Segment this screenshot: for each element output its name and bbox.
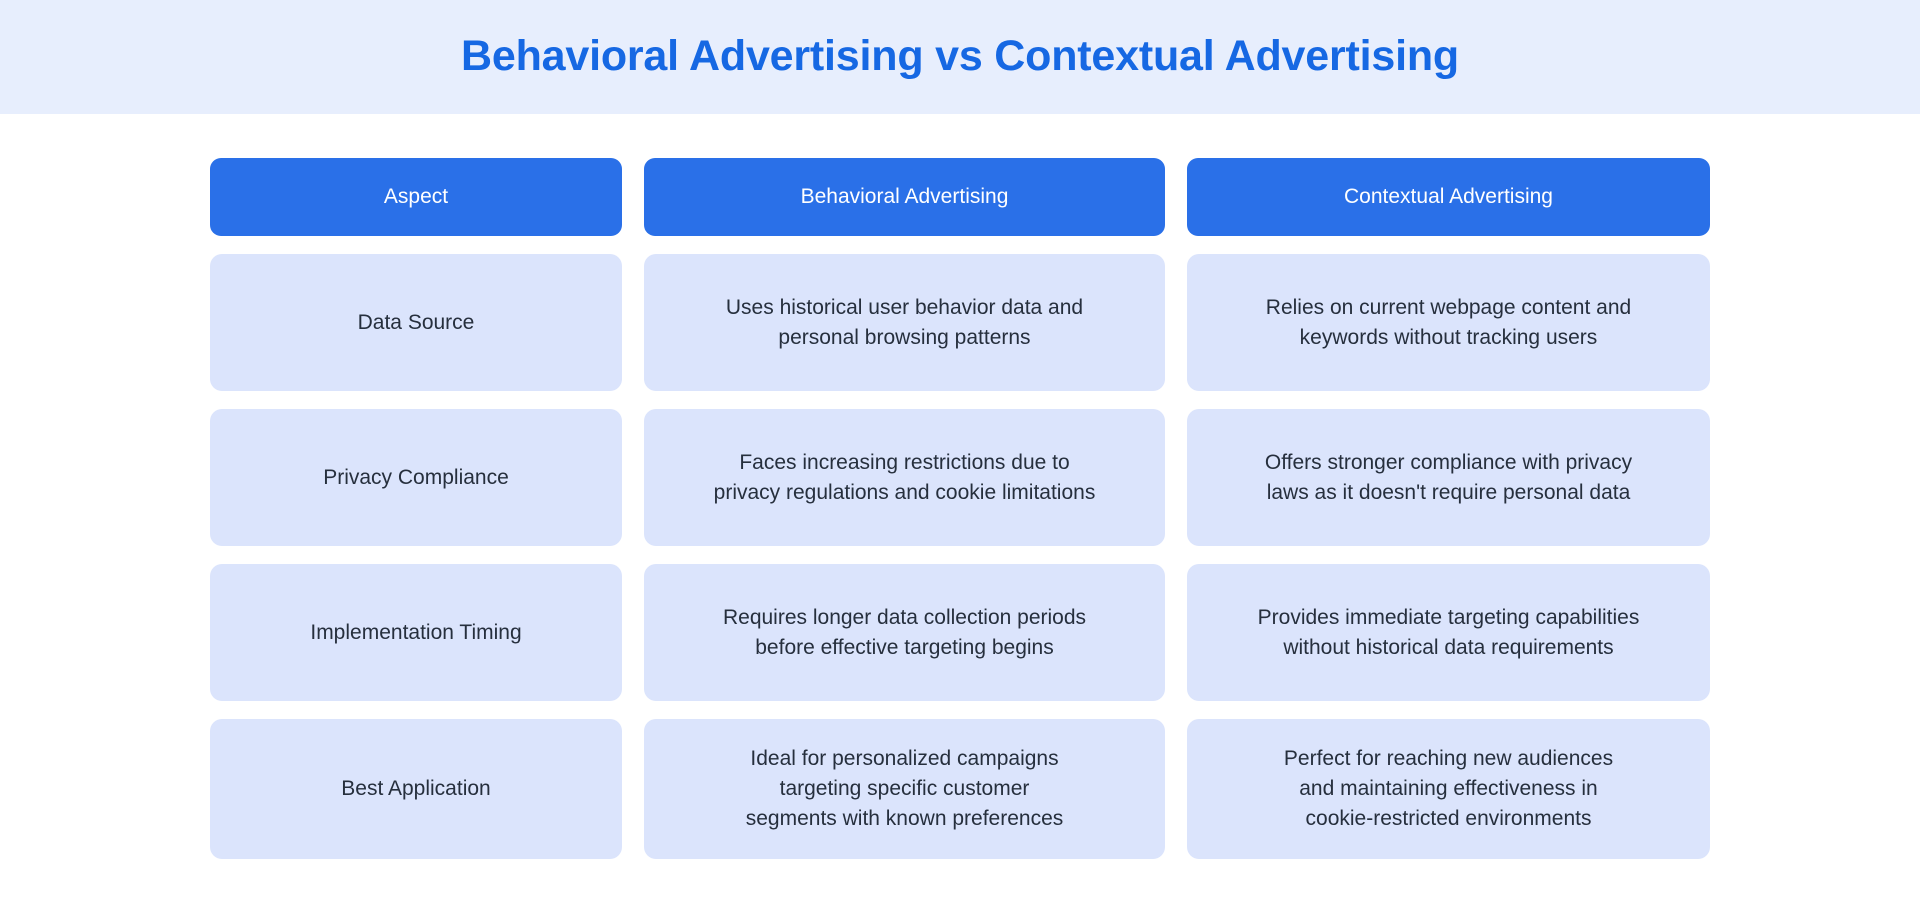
- cell-behavioral-text: Faces increasing restrictions due to pri…: [714, 448, 1096, 508]
- cell-aspect[interactable]: Best Application: [210, 719, 622, 859]
- cell-contextual[interactable]: Provides immediate targeting capabilitie…: [1187, 564, 1710, 701]
- table-header-row: Aspect Behavioral Advertising Contextual…: [210, 158, 1710, 236]
- column-header-aspect-label: Aspect: [384, 185, 448, 209]
- cell-contextual[interactable]: Offers stronger compliance with privacy …: [1187, 409, 1710, 546]
- cell-aspect-text: Best Application: [341, 774, 490, 804]
- cell-behavioral-text: Uses historical user behavior data and p…: [726, 293, 1083, 353]
- cell-behavioral[interactable]: Faces increasing restrictions due to pri…: [644, 409, 1165, 546]
- cell-behavioral-text: Requires longer data collection periods …: [723, 603, 1086, 663]
- cell-aspect-text: Implementation Timing: [310, 618, 521, 648]
- column-header-contextual[interactable]: Contextual Advertising: [1187, 158, 1710, 236]
- table-row: Data Source Uses historical user behavio…: [210, 254, 1710, 391]
- page-title: Behavioral Advertising vs Contextual Adv…: [461, 33, 1459, 80]
- cell-aspect-text: Data Source: [358, 308, 475, 338]
- cell-contextual-text: Provides immediate targeting capabilitie…: [1258, 603, 1640, 663]
- column-header-behavioral[interactable]: Behavioral Advertising: [644, 158, 1165, 236]
- comparison-table: Aspect Behavioral Advertising Contextual…: [210, 158, 1710, 859]
- table-row: Best Application Ideal for personalized …: [210, 719, 1710, 859]
- cell-contextual-text: Offers stronger compliance with privacy …: [1265, 448, 1632, 508]
- column-header-behavioral-label: Behavioral Advertising: [801, 185, 1009, 209]
- cell-contextual-text: Perfect for reaching new audiences and m…: [1284, 744, 1613, 833]
- cell-contextual-text: Relies on current webpage content and ke…: [1266, 293, 1631, 353]
- cell-aspect[interactable]: Privacy Compliance: [210, 409, 622, 546]
- table-row: Implementation Timing Requires longer da…: [210, 564, 1710, 701]
- cell-aspect[interactable]: Data Source: [210, 254, 622, 391]
- cell-contextual[interactable]: Relies on current webpage content and ke…: [1187, 254, 1710, 391]
- column-header-contextual-label: Contextual Advertising: [1344, 185, 1553, 209]
- cell-behavioral-text: Ideal for personalized campaigns targeti…: [746, 744, 1064, 833]
- cell-behavioral[interactable]: Requires longer data collection periods …: [644, 564, 1165, 701]
- cell-behavioral[interactable]: Uses historical user behavior data and p…: [644, 254, 1165, 391]
- table-row: Privacy Compliance Faces increasing rest…: [210, 409, 1710, 546]
- cell-aspect[interactable]: Implementation Timing: [210, 564, 622, 701]
- column-header-aspect[interactable]: Aspect: [210, 158, 622, 236]
- cell-behavioral[interactable]: Ideal for personalized campaigns targeti…: [644, 719, 1165, 859]
- cell-aspect-text: Privacy Compliance: [323, 463, 509, 493]
- cell-contextual[interactable]: Perfect for reaching new audiences and m…: [1187, 719, 1710, 859]
- title-banner: Behavioral Advertising vs Contextual Adv…: [0, 0, 1920, 114]
- comparison-page: Behavioral Advertising vs Contextual Adv…: [0, 0, 1920, 905]
